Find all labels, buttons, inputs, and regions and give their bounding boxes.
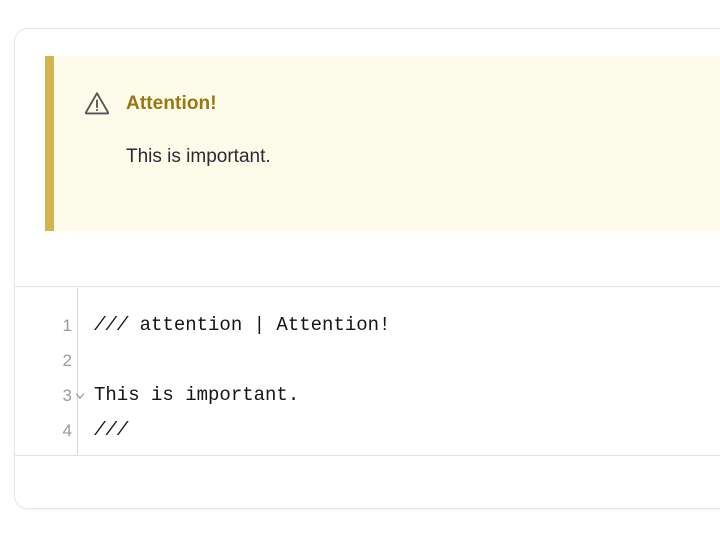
callout-title-row: Attention! xyxy=(84,88,720,118)
code-editor-pane[interactable]: 1 2 3 4 /// attention | Attention! xyxy=(15,288,720,456)
code-line[interactable]: This is important. xyxy=(94,378,720,413)
callout-body: Attention! This is important. xyxy=(54,56,720,231)
gutter-row: 4 xyxy=(15,413,77,448)
line-number: 1 xyxy=(63,317,72,334)
code-line[interactable]: /// xyxy=(94,413,720,448)
line-number: 3 xyxy=(63,387,72,404)
code-token-text: This is important. xyxy=(94,386,299,405)
line-number: 4 xyxy=(63,422,72,439)
preview-editor-card: Attention! This is important. 1 2 3 4 xyxy=(14,28,720,509)
card-footer xyxy=(15,457,720,508)
gutter-row: 2 xyxy=(15,343,77,378)
code-token-comment-marker: /// xyxy=(94,421,128,440)
preview-pane: Attention! This is important. xyxy=(15,29,720,287)
callout-accent-bar xyxy=(45,56,54,231)
code-token-text: attention | Attention! xyxy=(140,316,391,335)
callout-body-text: This is important. xyxy=(126,145,720,170)
attention-callout: Attention! This is important. xyxy=(45,56,720,231)
code-line[interactable]: /// attention | Attention! xyxy=(94,308,720,343)
gutter-row: 1 xyxy=(15,308,77,343)
chevron-down-icon[interactable] xyxy=(74,390,86,402)
warning-triangle-icon xyxy=(84,90,110,116)
code-line[interactable] xyxy=(94,343,720,378)
code-token-comment-marker: /// xyxy=(94,316,140,335)
callout-title: Attention! xyxy=(126,94,217,113)
code-text-area[interactable]: /// attention | Attention! This is impor… xyxy=(78,288,720,455)
line-number-gutter: 1 2 3 4 xyxy=(15,288,78,455)
gutter-row: 3 xyxy=(15,378,77,413)
line-number: 2 xyxy=(63,352,72,369)
